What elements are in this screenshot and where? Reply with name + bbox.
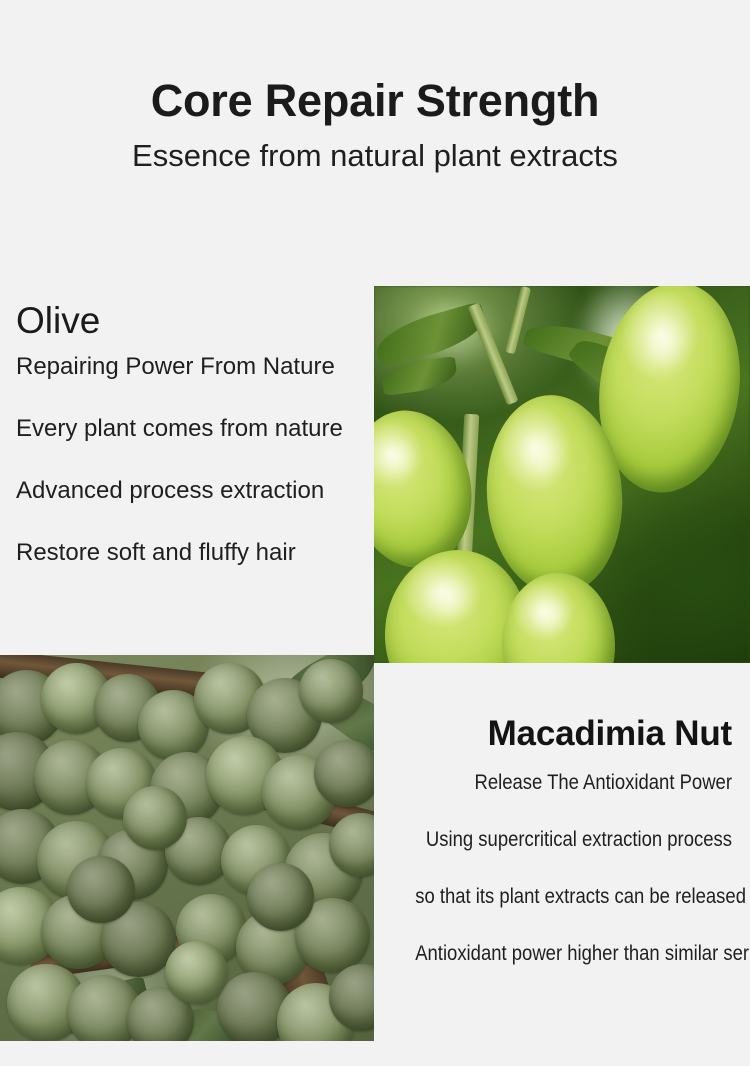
macadamia-benefit-item: Antioxidant power higher than similar se… [415, 943, 732, 964]
macadamia-heading: Macadimia Nut [372, 715, 732, 754]
macadamia-nut [165, 941, 229, 1005]
olive-benefit-item: Advanced process extraction [16, 479, 366, 503]
macadamia-nut [123, 786, 187, 850]
macadamia-nut [67, 856, 134, 923]
macadamia-benefit-item: so that its plant extracts can be releas… [415, 886, 732, 907]
olive-benefit-item: Restore soft and fluffy hair [16, 541, 366, 565]
olive-heading: Olive [16, 300, 366, 341]
macadamia-benefit-item: Using supercritical extraction process [415, 829, 732, 850]
page-subtitle: Essence from natural plant extracts [0, 140, 750, 171]
olive-text-block: Olive Repairing Power From Nature Every … [16, 300, 366, 603]
olive-benefit-list: Repairing Power From Nature Every plant … [16, 355, 366, 565]
olive-benefit-item: Repairing Power From Nature [16, 355, 366, 379]
macadamia-nut [299, 659, 363, 723]
olive-benefit-item: Every plant comes from nature [16, 417, 366, 441]
bottom-spacer [0, 1041, 750, 1066]
header-banner: Core Repair Strength Essence from natura… [0, 0, 750, 285]
macadamia-nut [314, 740, 374, 807]
macadamia-text-block: Macadimia Nut Release The Antioxidant Po… [372, 715, 732, 1000]
macadamia-benefit-list: Release The Antioxidant Power Using supe… [372, 772, 732, 964]
olive-photo [374, 286, 750, 663]
macadamia-nut [247, 863, 314, 930]
macadamia-benefit-item: Release The Antioxidant Power [415, 772, 732, 793]
macadamia-photo [0, 655, 374, 1041]
page-title: Core Repair Strength [0, 78, 750, 123]
infographic-page: Core Repair Strength Essence from natura… [0, 0, 750, 1066]
